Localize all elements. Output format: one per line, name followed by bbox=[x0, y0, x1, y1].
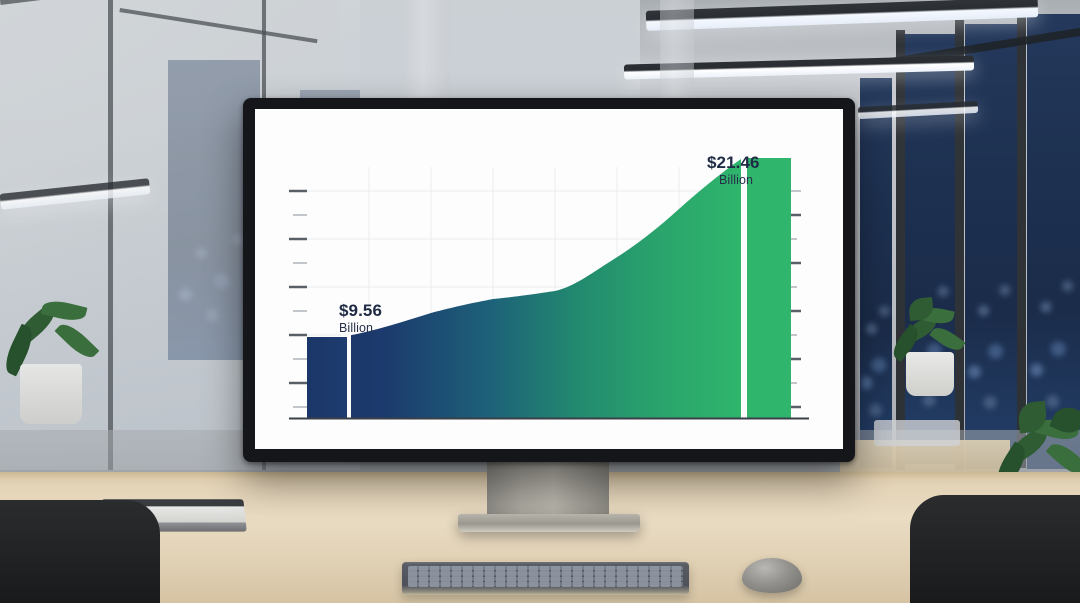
bar-2030 bbox=[747, 158, 791, 418]
monitor-stand-base bbox=[458, 514, 640, 532]
keyboard-keys bbox=[408, 566, 683, 587]
chair-right bbox=[910, 495, 1080, 603]
bar-gap-2024 bbox=[347, 335, 351, 418]
last-value-unit: Billion bbox=[719, 173, 753, 187]
bar-gap-2030 bbox=[741, 158, 747, 418]
first-value-amount: $9.56 bbox=[339, 302, 382, 319]
area-series bbox=[307, 159, 741, 418]
back-monitor bbox=[874, 420, 960, 446]
office-scene: $9.56 Billion $21.46 Billion 14.4% CAGR … bbox=[0, 0, 1080, 603]
keyboard[interactable] bbox=[402, 562, 689, 595]
pillar bbox=[660, 0, 694, 110]
plant-left bbox=[0, 280, 120, 450]
monitor-screen[interactable]: $9.56 Billion $21.46 Billion 14.4% CAGR … bbox=[255, 109, 843, 449]
bar-2024 bbox=[307, 337, 347, 418]
last-value-amount: $21.46 bbox=[707, 154, 760, 171]
mullion bbox=[896, 30, 905, 470]
growth-chart: $9.56 Billion $21.46 Billion 14.4% CAGR … bbox=[255, 109, 843, 449]
first-value-unit: Billion bbox=[339, 321, 373, 335]
axis-ticks-left bbox=[289, 191, 307, 407]
monitor: $9.56 Billion $21.46 Billion 14.4% CAGR … bbox=[243, 98, 855, 462]
plant-back bbox=[880, 290, 976, 400]
monitor-stand-neck bbox=[487, 462, 609, 518]
chair-left bbox=[0, 500, 160, 603]
mullion bbox=[955, 20, 964, 470]
window-pane bbox=[860, 78, 892, 468]
mouse[interactable] bbox=[742, 558, 802, 593]
